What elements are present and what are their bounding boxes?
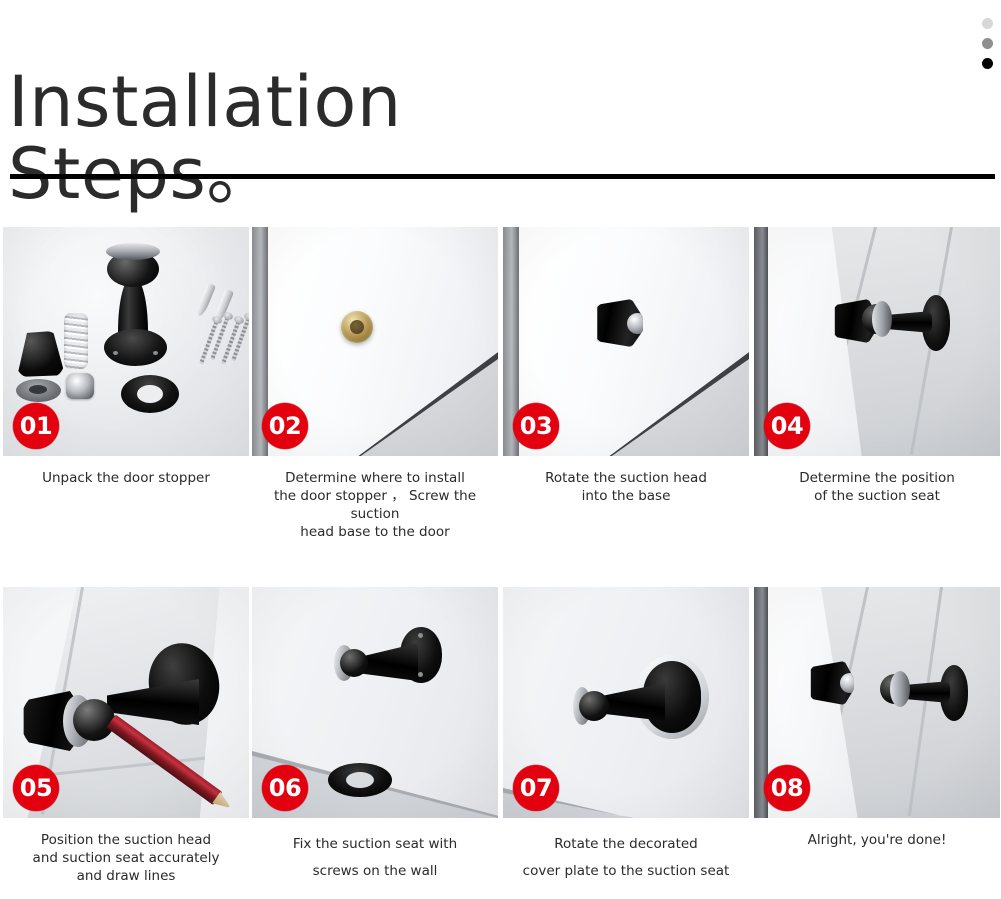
base-plate-part (104, 329, 167, 366)
header-divider (10, 174, 995, 179)
step-photo-02: 02 (252, 227, 498, 456)
step-card-04[interactable]: 04 Determine the position of the suction… (754, 227, 1000, 505)
step-photo-06: 06 (252, 587, 498, 818)
brass-base-on-door (341, 311, 373, 343)
step-card-07[interactable]: 07 Rotate the decorated cover plate to t… (503, 587, 749, 885)
step-photo-05: 05 (3, 587, 249, 818)
page-title-line-1: Installation (8, 61, 402, 143)
steps-row-2: 05 Position the suction head and suction… (0, 587, 1001, 899)
pager-dot-3[interactable] (982, 58, 993, 69)
step-caption-05: Position the suction head and suction se… (3, 831, 249, 885)
step-badge-02: 02 (262, 403, 308, 449)
step-caption-08: Alright, you're done! (754, 831, 1000, 849)
loose-cover-ring (328, 763, 392, 797)
step-caption-02: Determine where to install the door stop… (252, 469, 498, 541)
suction-seat-assembly (880, 669, 968, 715)
step-caption-06: Fix the suction seat with screws on the … (252, 831, 498, 885)
pager-dot-1[interactable] (982, 18, 993, 29)
step-badge-06: 06 (262, 765, 308, 811)
step-card-03[interactable]: 03 Rotate the suction head into the base (503, 227, 749, 505)
step-badge-01: 01 (13, 403, 59, 449)
pager-dots[interactable] (982, 18, 996, 78)
seat-chrome-collar (890, 671, 910, 707)
step-badge-04: 04 (764, 403, 810, 449)
steps-grid: 01 Unpack the door stopper 02 Determine … (0, 227, 1001, 899)
step-badge-07: 07 (513, 765, 559, 811)
chrome-nut-part (66, 373, 94, 399)
page-header: Installation Steps。 (0, 0, 1001, 182)
screw-head (418, 633, 423, 638)
step-photo-04: 04 (754, 227, 1000, 456)
suction-seat-assembly (862, 299, 950, 345)
magnet-ball (340, 649, 368, 677)
step-photo-01: 01 (3, 227, 249, 456)
magnet-ball (579, 691, 609, 721)
step-card-05[interactable]: 05 Position the suction head and suction… (3, 587, 249, 885)
step-photo-03: 03 (503, 227, 749, 456)
step-caption-01: Unpack the door stopper (3, 469, 249, 487)
step-card-01[interactable]: 01 Unpack the door stopper (3, 227, 249, 487)
step-card-02[interactable]: 02 Determine where to install the door s… (252, 227, 498, 541)
screw-head (418, 672, 423, 677)
step-photo-08: 08 (754, 587, 1000, 818)
step-badge-03: 03 (513, 403, 559, 449)
step-card-08[interactable]: 08 Alright, you're done! (754, 587, 1000, 849)
step-badge-05: 05 (13, 765, 59, 811)
step-caption-07: Rotate the decorated cover plate to the … (503, 831, 749, 885)
steps-row-1: 01 Unpack the door stopper 02 Determine … (0, 227, 1001, 587)
step-badge-08: 08 (764, 765, 810, 811)
step-photo-07: 07 (503, 587, 749, 818)
metal-washer-part (16, 379, 61, 402)
step-caption-03: Rotate the suction head into the base (503, 469, 749, 505)
suction-head-on-door (806, 661, 854, 705)
spring-part (64, 313, 88, 369)
cover-ring-part (121, 375, 179, 413)
suction-head-installed (591, 299, 643, 347)
seat-chrome-collar (872, 301, 892, 337)
magnet-ball (73, 699, 115, 741)
step-caption-04: Determine the position of the suction se… (754, 469, 1000, 505)
step-card-06[interactable]: 06 Fix the suction seat with screws on t… (252, 587, 498, 885)
pager-dot-2[interactable] (982, 38, 993, 49)
